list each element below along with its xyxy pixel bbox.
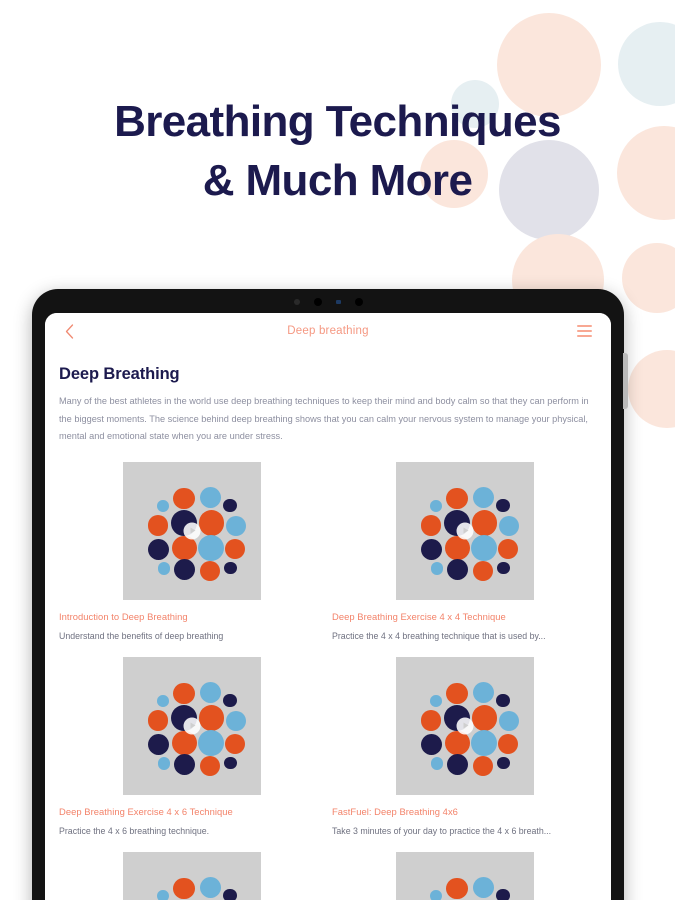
- artwork-circle: [471, 730, 497, 756]
- artwork-circle: [172, 536, 196, 560]
- artwork-circle: [421, 734, 442, 755]
- volume-button[interactable]: [623, 353, 628, 409]
- artwork-circle: [431, 757, 444, 770]
- video-title[interactable]: Deep Breathing Exercise 4 x 6 Technique: [59, 806, 324, 817]
- blob-peach-low-right: [622, 243, 675, 313]
- artwork-circle: [199, 705, 224, 730]
- thumbnail-wrapper: [332, 657, 597, 795]
- artwork-circle: [200, 487, 221, 508]
- video-card[interactable]: [59, 852, 324, 900]
- artwork-circle: [226, 516, 246, 536]
- thumbnail-wrapper: [332, 462, 597, 600]
- artwork-circle: [472, 510, 497, 535]
- artwork-circle: [472, 705, 497, 730]
- artwork-circle: [148, 734, 169, 755]
- artwork-circle: [473, 682, 494, 703]
- artwork-circle: [157, 500, 169, 512]
- artwork-circle: [447, 754, 468, 775]
- artwork-circle: [446, 683, 468, 705]
- artwork-circle: [447, 559, 468, 580]
- intro-paragraph: Many of the best athletes in the world u…: [59, 393, 597, 446]
- artwork-circle: [431, 562, 444, 575]
- artwork-circle: [223, 889, 236, 900]
- artwork-circle: [200, 756, 220, 776]
- artwork-circle: [445, 536, 469, 560]
- chevron-left-icon[interactable]: [59, 321, 79, 341]
- artwork-circle: [496, 694, 509, 707]
- thumbnail-wrapper: [59, 852, 324, 900]
- video-thumbnail[interactable]: [396, 462, 534, 600]
- artwork-circle: [497, 757, 510, 770]
- artwork-circle: [148, 710, 168, 730]
- artwork-circle: [499, 711, 519, 731]
- artwork-circle: [471, 535, 497, 561]
- artwork-circle: [157, 695, 169, 707]
- video-card[interactable]: Deep Breathing Exercise 4 x 6 TechniqueP…: [59, 657, 324, 852]
- bezel-sensors: [32, 298, 624, 306]
- screenshot-stage: Breathing Techniques & Much More Deep br…: [0, 0, 675, 900]
- artwork-circle: [473, 487, 494, 508]
- artwork-circle: [148, 515, 168, 535]
- artwork-circle: [199, 510, 224, 535]
- artwork-circle: [158, 757, 171, 770]
- play-icon[interactable]: [183, 717, 200, 734]
- artwork-circle: [200, 561, 220, 581]
- video-description: Practice the 4 x 6 breathing technique.: [59, 826, 324, 836]
- artwork-circle: [446, 878, 468, 900]
- artwork-circle: [498, 734, 518, 754]
- video-description: Take 3 minutes of your day to practice t…: [332, 826, 597, 836]
- artwork-circle: [473, 756, 493, 776]
- artwork-circle: [174, 559, 195, 580]
- video-card[interactable]: FastFuel: Deep Breathing 4x6Take 3 minut…: [332, 657, 597, 852]
- artwork-circle: [173, 878, 195, 900]
- play-icon[interactable]: [183, 522, 200, 539]
- video-grid: Introduction to Deep BreathingUnderstand…: [59, 462, 597, 852]
- artwork-circle: [173, 683, 195, 705]
- artwork-circle: [198, 730, 224, 756]
- page-headline: Breathing Techniques & Much More: [0, 92, 675, 210]
- headline-line-1: Breathing Techniques: [114, 97, 561, 146]
- tablet-screen: Deep breathing Deep Breathing Many of th…: [45, 313, 611, 900]
- artwork-circle: [430, 695, 442, 707]
- artwork-circle: [224, 757, 237, 770]
- artwork-circle: [499, 516, 519, 536]
- app-nav-bar: Deep breathing: [45, 313, 611, 349]
- app-content: Deep Breathing Many of the best athletes…: [45, 365, 611, 900]
- play-icon[interactable]: [456, 717, 473, 734]
- artwork-circle: [430, 500, 442, 512]
- artwork-circle: [148, 539, 169, 560]
- circle-cluster-artwork: [123, 852, 261, 900]
- nav-title: Deep breathing: [79, 325, 577, 337]
- artwork-circle: [473, 561, 493, 581]
- video-thumbnail[interactable]: [123, 657, 261, 795]
- artwork-circle: [226, 711, 246, 731]
- hamburger-menu-icon[interactable]: [577, 321, 597, 341]
- thumbnail-wrapper: [332, 852, 597, 900]
- artwork-circle: [198, 535, 224, 561]
- artwork-circle: [496, 499, 509, 512]
- artwork-circle: [496, 889, 509, 900]
- proximity-sensor-icon: [294, 299, 300, 305]
- ambient-sensor-icon: [355, 298, 363, 306]
- artwork-circle: [497, 562, 510, 575]
- video-thumbnail[interactable]: [396, 657, 534, 795]
- video-title[interactable]: Introduction to Deep Breathing: [59, 611, 324, 622]
- play-icon[interactable]: [456, 522, 473, 539]
- artwork-circle: [223, 694, 236, 707]
- artwork-circle: [225, 539, 245, 559]
- video-card[interactable]: [332, 852, 597, 900]
- video-thumbnail[interactable]: [123, 852, 261, 900]
- artwork-circle: [174, 754, 195, 775]
- video-grid-partial-row: [59, 852, 597, 900]
- circle-cluster-artwork: [396, 852, 534, 900]
- front-camera-icon: [314, 298, 322, 306]
- video-thumbnail[interactable]: [123, 462, 261, 600]
- artwork-circle: [157, 890, 169, 900]
- tablet-device: Deep breathing Deep Breathing Many of th…: [32, 289, 624, 900]
- video-title[interactable]: Deep Breathing Exercise 4 x 4 Technique: [332, 611, 597, 622]
- status-led-icon: [336, 300, 341, 304]
- artwork-circle: [421, 515, 441, 535]
- video-description: Understand the benefits of deep breathin…: [59, 631, 324, 641]
- thumbnail-wrapper: [59, 657, 324, 795]
- artwork-circle: [446, 488, 468, 510]
- artwork-circle: [224, 562, 237, 575]
- artwork-circle: [223, 499, 236, 512]
- artwork-circle: [473, 877, 494, 898]
- artwork-circle: [225, 734, 245, 754]
- blob-peach-behind-tab: [628, 350, 675, 428]
- artwork-circle: [445, 731, 469, 755]
- artwork-circle: [200, 682, 221, 703]
- page-title: Deep Breathing: [59, 365, 597, 384]
- video-description: Practice the 4 x 4 breathing technique t…: [332, 631, 597, 641]
- artwork-circle: [173, 488, 195, 510]
- video-thumbnail[interactable]: [396, 852, 534, 900]
- artwork-circle: [200, 877, 221, 898]
- artwork-circle: [421, 710, 441, 730]
- artwork-circle: [498, 539, 518, 559]
- headline-line-2: & Much More: [0, 151, 675, 210]
- artwork-circle: [430, 890, 442, 900]
- video-card[interactable]: Deep Breathing Exercise 4 x 4 TechniqueP…: [332, 462, 597, 657]
- thumbnail-wrapper: [59, 462, 324, 600]
- artwork-circle: [172, 731, 196, 755]
- video-card[interactable]: Introduction to Deep BreathingUnderstand…: [59, 462, 324, 657]
- artwork-circle: [421, 539, 442, 560]
- artwork-circle: [158, 562, 171, 575]
- video-title[interactable]: FastFuel: Deep Breathing 4x6: [332, 806, 597, 817]
